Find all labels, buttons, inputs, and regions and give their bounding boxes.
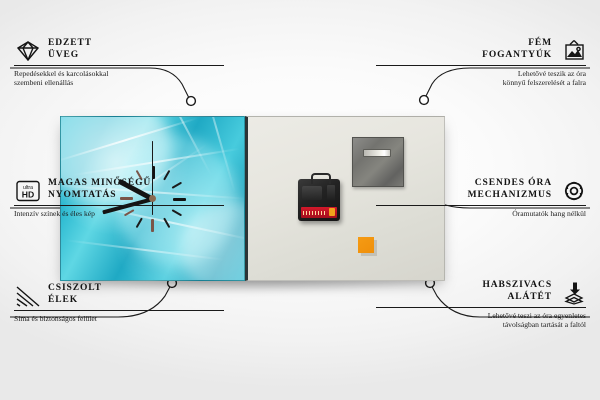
feature-metal-handles: FÉM FOGANTYÚK Lehetővé teszik az óra kön… <box>376 38 586 88</box>
hanger-slot <box>363 149 391 157</box>
leader-dot-tempered-glass <box>187 97 196 106</box>
divider <box>14 65 224 66</box>
clock-mechanism <box>298 179 340 221</box>
feature-polished-edges: CSISZOLT ÉLEK Sima és biztonságos felüle… <box>14 283 224 323</box>
divider <box>14 205 224 206</box>
ultra-hd-icon: ultra HD <box>14 179 40 201</box>
diamond-icon <box>14 39 40 61</box>
picture-frame-icon <box>560 39 586 61</box>
divider <box>376 65 586 66</box>
gear-icon <box>560 179 586 201</box>
feature-title: MAGAS MINŐSÉGŰ NYOMTATÁS <box>48 178 151 201</box>
svg-text:HD: HD <box>22 189 34 199</box>
feature-high-quality-print: ultra HD MAGAS MINŐSÉGŰ NYOMTATÁS Intenz… <box>14 178 224 218</box>
mechanism-body-seam <box>302 186 322 200</box>
feature-silent-mechanism: CSENDES ÓRA MECHANIZMUS Óramutatók hang … <box>376 178 586 218</box>
press-down-icon <box>560 281 586 303</box>
mechanism-hanger-loop <box>311 173 331 184</box>
feature-title: EDZETT ÜVEG <box>48 38 92 61</box>
feature-desc: Lehetővé teszik az óra könnyű felszerelé… <box>376 69 586 88</box>
feature-title: FÉM FOGANTYÚK <box>482 38 552 61</box>
infographic-stage: EDZETT ÜVEG Repedésekkel és karcolásokka… <box>0 0 600 400</box>
feature-desc: Óramutatók hang nélkül <box>376 209 586 219</box>
feature-desc: Intenzív színek és éles kép <box>14 209 224 219</box>
feature-desc: Lehetővé teszi az óra egyenletes távolsá… <box>376 311 586 330</box>
feature-title: HABSZIVACS ALÁTÉT <box>482 280 552 303</box>
feature-desc: Sima és biztonságos felület <box>14 314 224 324</box>
divider <box>376 307 586 308</box>
mechanism-label <box>301 207 337 218</box>
divider <box>14 310 224 311</box>
feature-desc: Repedésekkel és karcolásokkal szembeni e… <box>14 69 224 88</box>
mechanism-side-seam <box>327 185 335 201</box>
feature-tempered-glass: EDZETT ÜVEG Repedésekkel és karcolásokka… <box>14 38 224 88</box>
feature-title: CSENDES ÓRA MECHANIZMUS <box>468 178 552 201</box>
polished-edge-icon <box>14 284 40 306</box>
leader-dot-metal-handles <box>420 96 429 105</box>
divider <box>376 205 586 206</box>
feature-foam-pad: HABSZIVACS ALÁTÉT Lehetővé teszi az óra … <box>376 280 586 330</box>
feature-title: CSISZOLT ÉLEK <box>48 283 102 306</box>
foam-spacer-pad <box>358 237 374 253</box>
